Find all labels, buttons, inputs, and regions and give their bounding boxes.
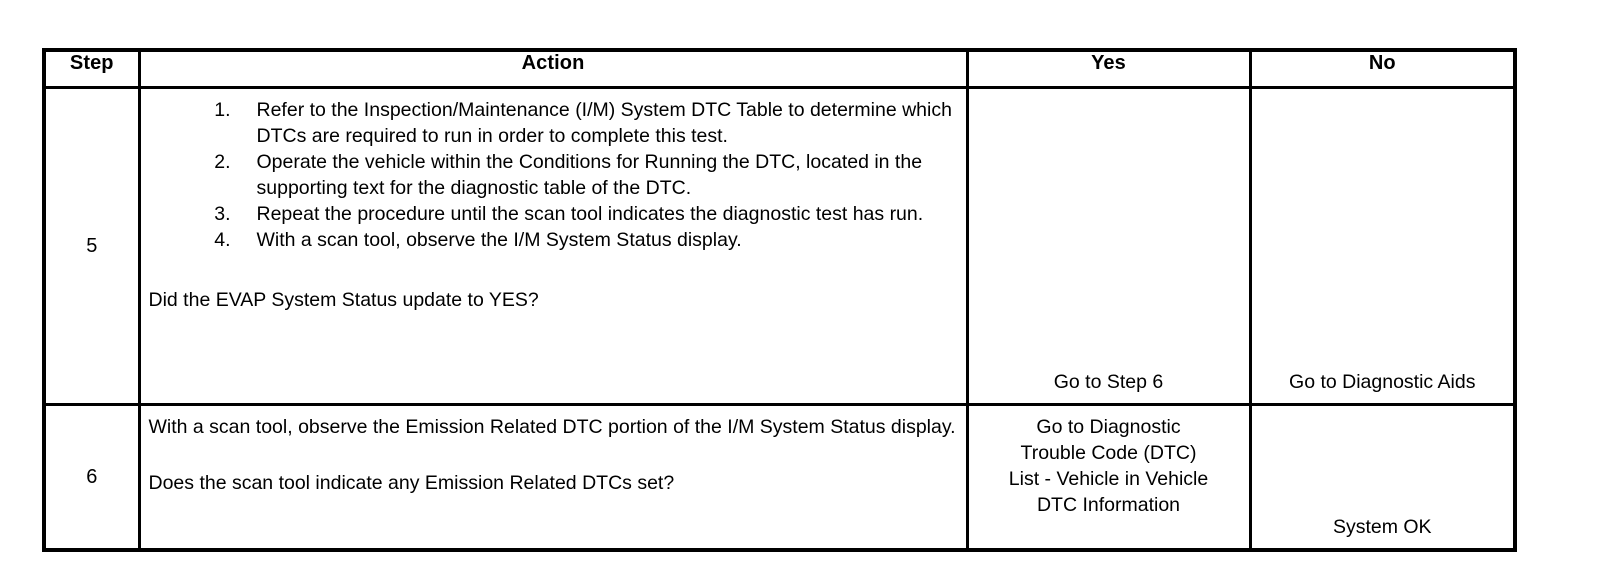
list-item-text: Repeat the procedure until the scan tool… [257,203,924,225]
list-item-text: Operate the vehicle within the Condition… [257,151,923,199]
list-item-number: 1. [197,97,231,123]
table-body: 5 1. Refer to the Inspection/Maintenance… [44,88,1515,551]
diagnostic-procedure-table: Step Action Yes No 5 1. Refer to the Ins… [42,48,1517,552]
no-answer-cell: System OK [1250,405,1515,551]
action-step-list: 1. Refer to the Inspection/Maintenance (… [149,97,960,253]
list-item-text: With a scan tool, observe the I/M System… [257,229,742,251]
list-item-number: 4. [197,227,231,253]
yes-answer-block: Go to Step 6 [971,369,1247,395]
no-answer-block: System OK [1254,514,1512,540]
list-item: 1. Refer to the Inspection/Maintenance (… [149,97,960,149]
yes-answer-block: Go to Diagnostic Trouble Code (DTC) List… [971,414,1247,518]
yes-answer-line: Trouble Code (DTC) [971,440,1247,466]
yes-answer-cell: Go to Step 6 [967,88,1250,405]
list-item-text: Refer to the Inspection/Maintenance (I/M… [257,99,952,147]
table-row: 5 1. Refer to the Inspection/Maintenance… [44,88,1515,405]
table-header: Step Action Yes No [44,50,1515,88]
column-header-step: Step [44,50,139,88]
action-cell: 1. Refer to the Inspection/Maintenance (… [139,88,967,405]
column-header-action: Action [139,50,967,88]
list-item: 4. With a scan tool, observe the I/M Sys… [149,227,960,253]
no-answer-line: Go to Diagnostic Aids [1254,369,1512,395]
yes-answer-line: DTC Information [971,492,1247,518]
list-item-number: 2. [197,149,231,175]
table-row: 6 With a scan tool, observe the Emission… [44,405,1515,551]
yes-answer-line: Go to Diagnostic [971,414,1247,440]
action-cell: With a scan tool, observe the Emission R… [139,405,967,551]
list-item: 2. Operate the vehicle within the Condit… [149,149,960,201]
step-number: 6 [44,405,139,551]
list-item: 3. Repeat the procedure until the scan t… [149,201,960,227]
action-question: Did the EVAP System Status update to YES… [149,287,960,313]
yes-answer-cell: Go to Diagnostic Trouble Code (DTC) List… [967,405,1250,551]
page-canvas: Step Action Yes No 5 1. Refer to the Ins… [0,0,1600,572]
header-row: Step Action Yes No [44,50,1515,88]
no-answer-cell: Go to Diagnostic Aids [1250,88,1515,405]
column-header-yes: Yes [967,50,1250,88]
yes-answer-line: List - Vehicle in Vehicle [971,466,1247,492]
yes-answer-line: Go to Step 6 [971,369,1247,395]
action-question: Does the scan tool indicate any Emission… [149,470,960,496]
step-number: 5 [44,88,139,405]
action-lead-text: With a scan tool, observe the Emission R… [149,414,960,440]
spacer [149,440,960,470]
no-answer-line: System OK [1254,514,1512,540]
column-header-no: No [1250,50,1515,88]
no-answer-block: Go to Diagnostic Aids [1254,369,1512,395]
list-item-number: 3. [197,201,231,227]
